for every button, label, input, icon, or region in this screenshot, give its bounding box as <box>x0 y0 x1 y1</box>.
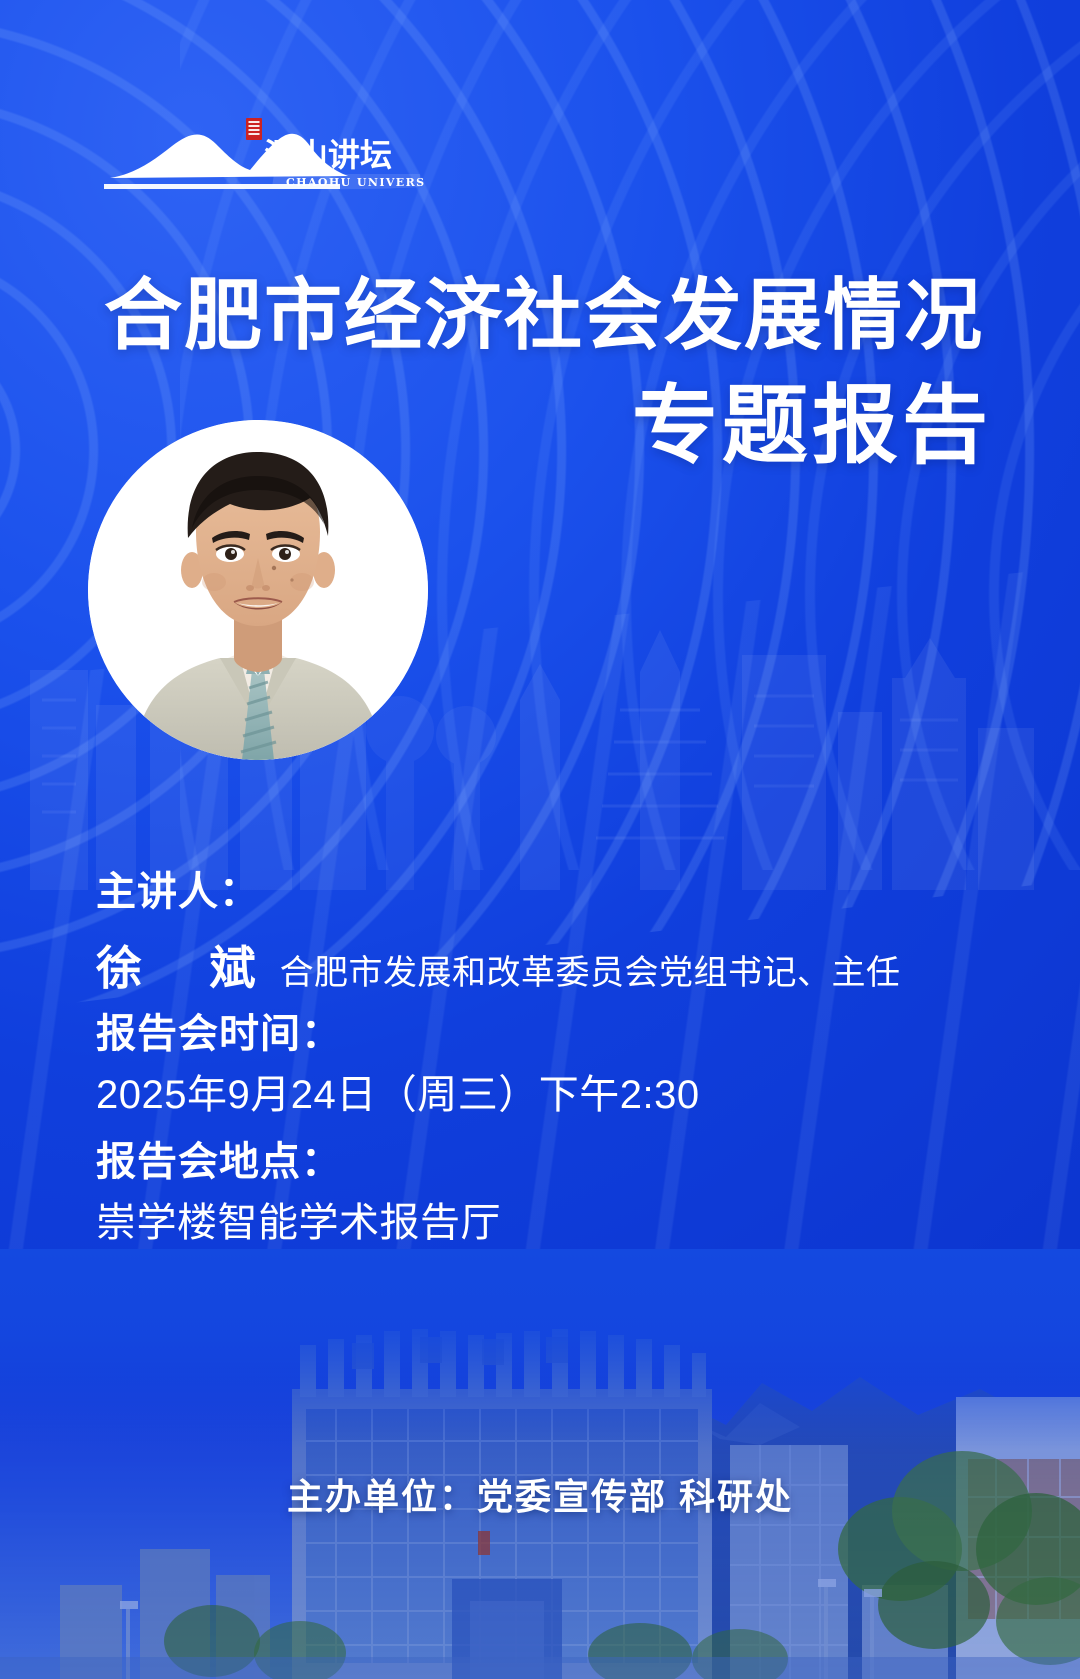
time-value: 2025年9月24日（周三）下午2:30 <box>96 1064 996 1126</box>
organizer-footer: 主办单位：党委宣传部 科研处 <box>0 1468 1080 1520</box>
speaker-label: 主讲人： <box>96 862 996 922</box>
speaker-name: 徐 斌 <box>96 932 270 998</box>
speaker-title: 合肥市发展和改革委员会党组书记、主任 <box>280 945 901 994</box>
campus-building-photo <box>0 1249 1080 1679</box>
title-line-1: 合肥市经济社会发展情况 <box>0 272 1080 359</box>
event-details: 主讲人： 徐 斌 合肥市发展和改革委员会党组书记、主任 报告会时间： 2025年… <box>96 862 996 1254</box>
campus-top-fade <box>0 1249 1080 1449</box>
logo-text-cn: 汤山讲坛 <box>264 136 392 174</box>
poster-root: 汤山讲坛 CHAOHU UNIVERSITY 汤山讲坛 CHAOHU UNIVE… <box>0 0 1080 1679</box>
chaohu-university-logo: 汤山讲坛 CHAOHU UNIVERSITY <box>104 112 424 194</box>
place-label: 报告会地点： <box>96 1132 996 1192</box>
speaker-portrait <box>88 420 428 760</box>
logo-text-en: CHAOHU UNIVERSITY <box>286 176 424 189</box>
place-value: 崇学楼智能学术报告厅 <box>96 1192 996 1254</box>
poster-title: 合肥市经济社会发展情况 专题报告 <box>0 272 1080 474</box>
time-label: 报告会时间： <box>96 1004 996 1064</box>
speaker-row: 徐 斌 合肥市发展和改革委员会党组书记、主任 <box>96 932 996 998</box>
